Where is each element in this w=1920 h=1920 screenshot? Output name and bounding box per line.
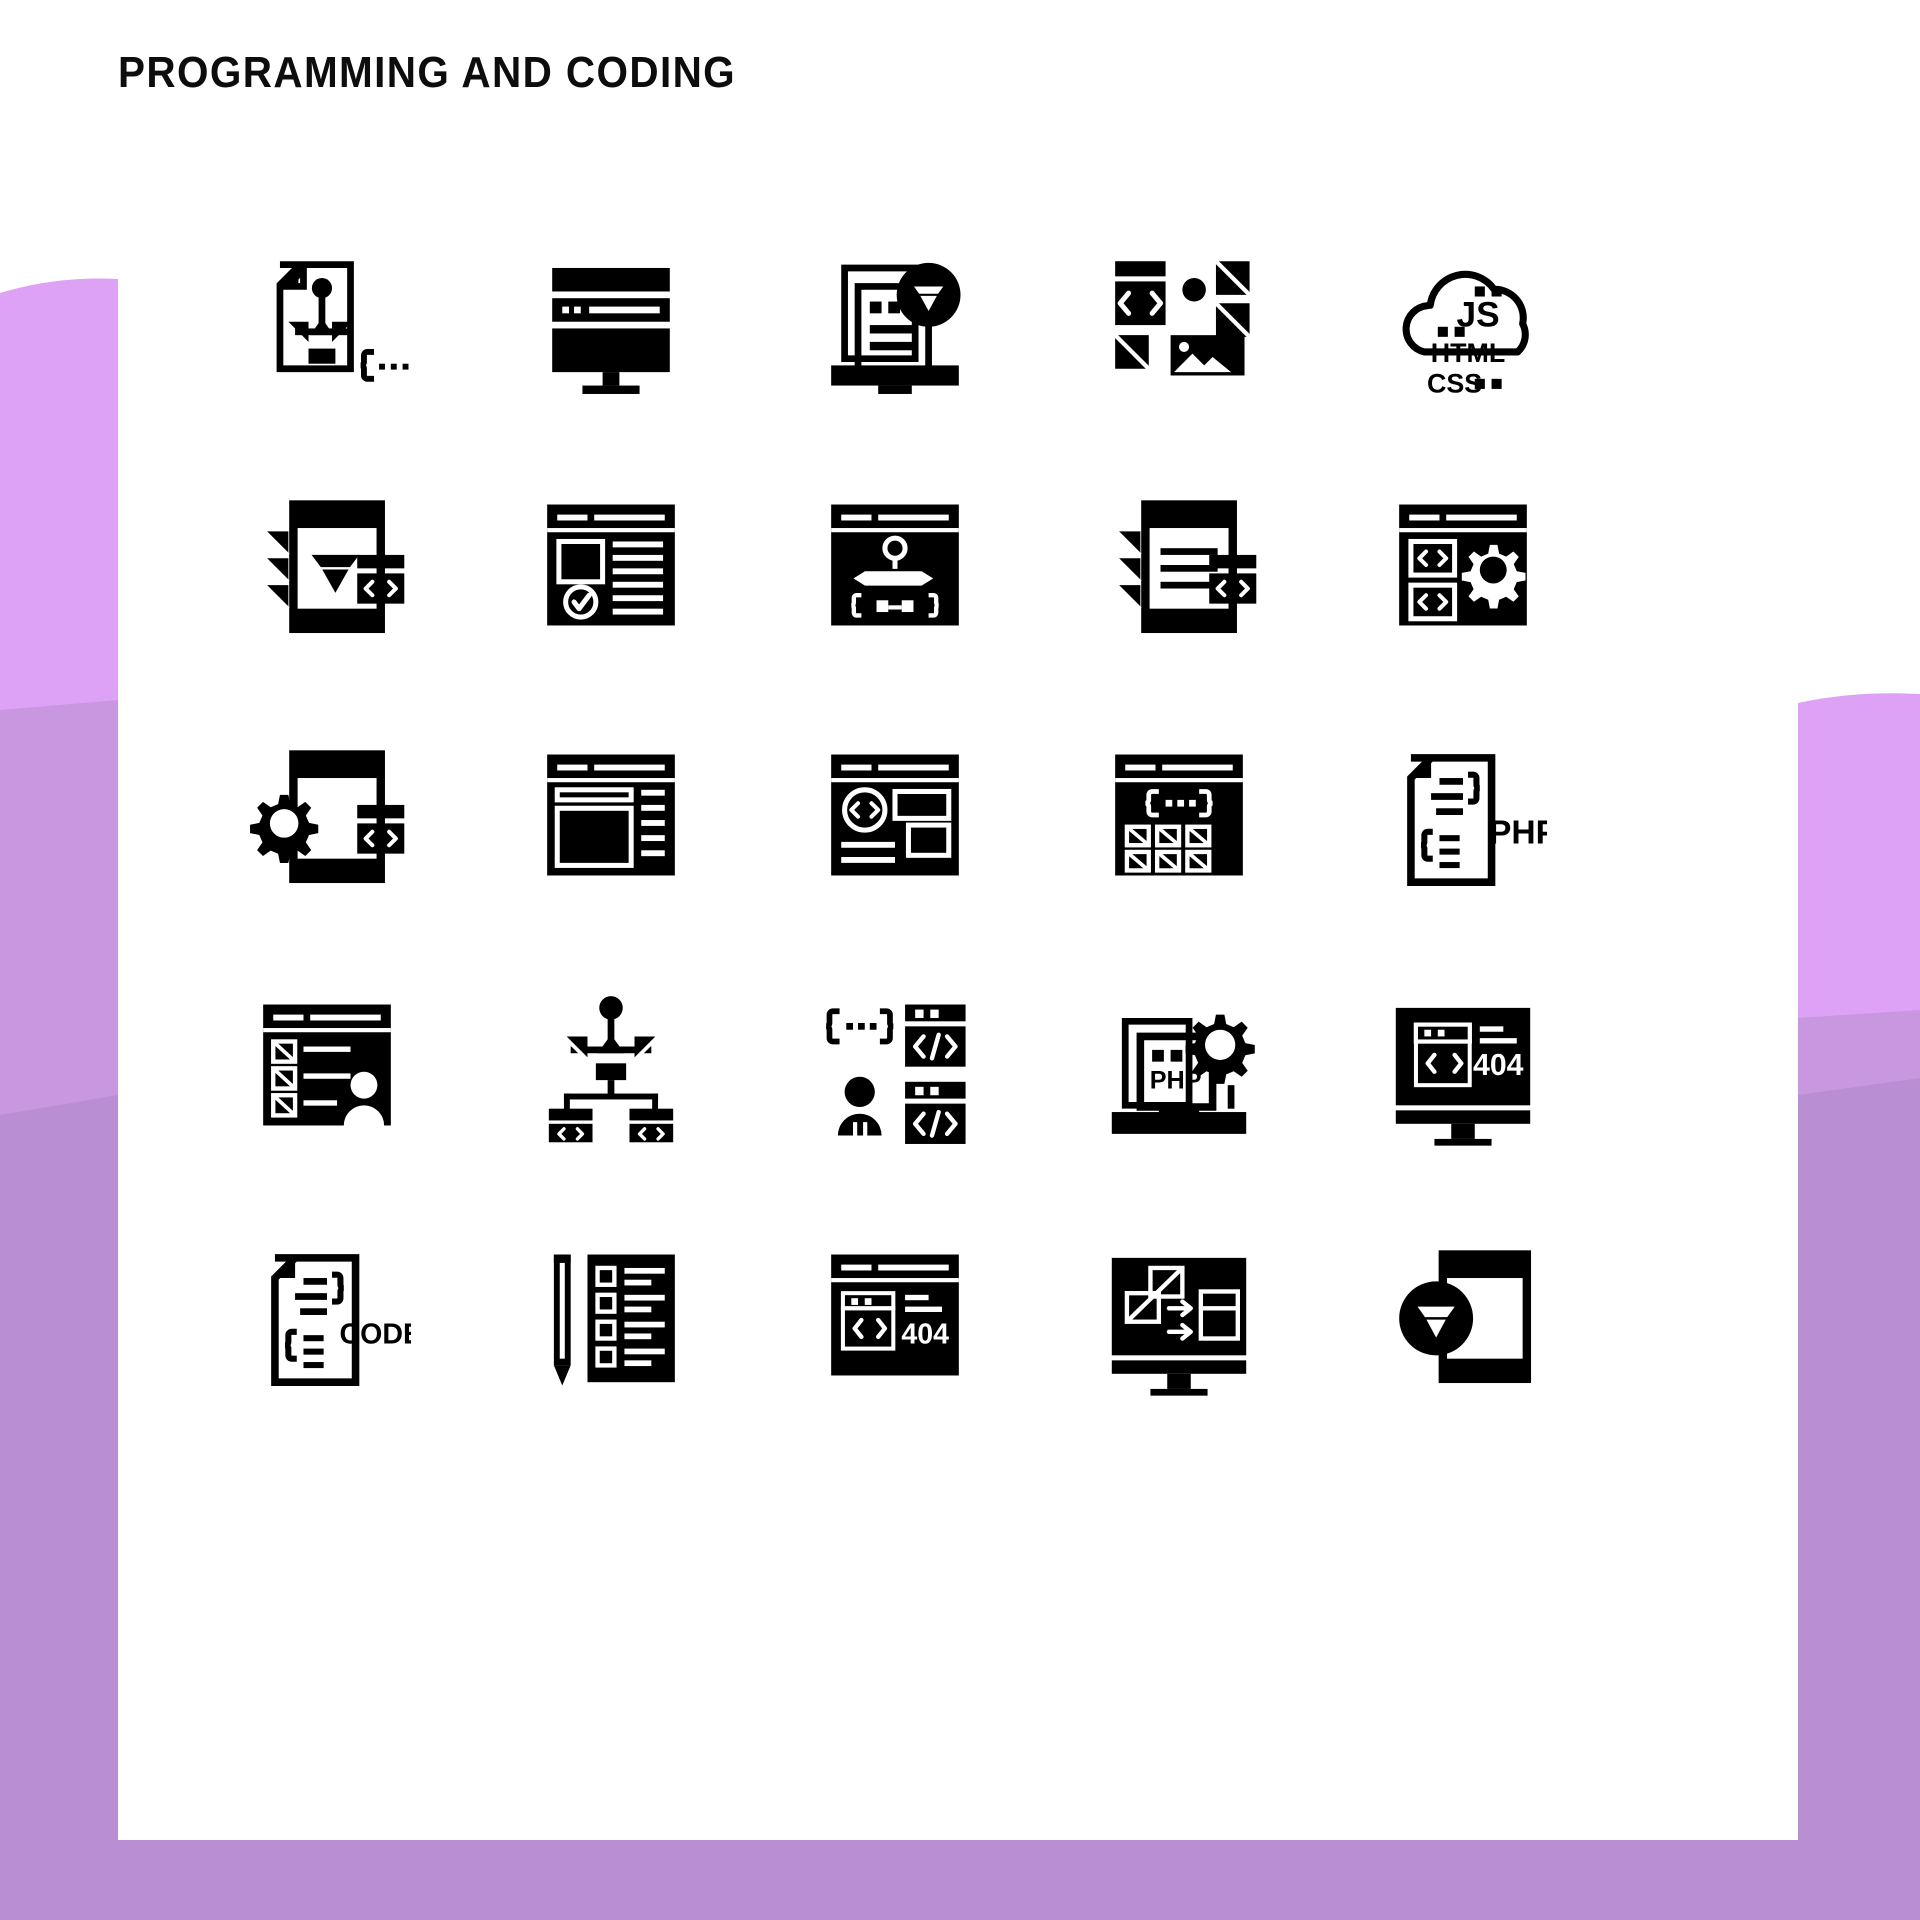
page-title: PROGRAMMING AND CODING [118, 48, 1590, 98]
bottom-band [0, 1840, 1920, 1920]
icon-cell-20[interactable]: 404 [1321, 940, 1605, 1190]
mobile-diamond-code-icon [243, 481, 411, 649]
developer-code-windows-icon [811, 981, 979, 1149]
icon-cell-10[interactable] [1321, 440, 1605, 690]
icon-cell-3[interactable] [753, 190, 1037, 440]
icon-cell-18[interactable] [753, 940, 1037, 1190]
html-label: HTML [1431, 338, 1506, 368]
monitor-responsive-transfer-icon [1095, 1231, 1263, 1399]
icon-cell-5[interactable]: JS HTML CSS [1321, 190, 1605, 440]
code-file-icon: CODE [243, 1231, 411, 1399]
cloud-js-html-css-icon: JS HTML CSS [1379, 231, 1547, 399]
icon-cell-7[interactable] [469, 440, 753, 690]
layout-grid-media-icon [1095, 231, 1263, 399]
laptop-php-gear-icon: PHP [1095, 981, 1263, 1149]
icon-cell-6[interactable] [185, 440, 469, 690]
browser-pen-design-icon [811, 481, 979, 649]
icon-cell-2[interactable] [469, 190, 753, 440]
icon-cell-17[interactable] [469, 940, 753, 1190]
mobile-lines-code-icon [1095, 481, 1263, 649]
right-blob-dark [1798, 1078, 1920, 1840]
mobile-diamond-badge-icon [1379, 1231, 1547, 1399]
monitor-404-icon: 404 [1379, 981, 1547, 1149]
pen-checklist-icon [527, 1231, 695, 1399]
icon-cell-19[interactable]: PHP [1037, 940, 1321, 1190]
code-label: CODE [340, 1319, 411, 1351]
icon-cell-23[interactable]: 404 [753, 1190, 1037, 1440]
icon-cell-4[interactable] [1037, 190, 1321, 440]
error-404-label-browser: 404 [901, 1319, 949, 1351]
php-file-icon: PHP [1379, 731, 1547, 899]
icon-cell-15[interactable]: PHP [1321, 690, 1605, 940]
laptop-diamond-icon [811, 231, 979, 399]
browser-user-list-icon [243, 981, 411, 1149]
icon-cell-8[interactable] [753, 440, 1037, 690]
icon-cell-16[interactable] [185, 940, 469, 1190]
icon-cell-12[interactable] [469, 690, 753, 940]
mobile-gear-code-icon [243, 731, 411, 899]
browser-braces-grid-icon [1095, 731, 1263, 899]
poster-stage: PROGRAMMING AND CODING [0, 0, 1920, 1920]
sitemap-code-nodes-icon [527, 981, 695, 1149]
icon-cell-9[interactable] [1037, 440, 1321, 690]
browser-code-blocks-icon [811, 731, 979, 899]
browser-gear-code-icon [1379, 481, 1547, 649]
icon-cell-24[interactable] [1037, 1190, 1321, 1440]
icon-cell-11[interactable] [185, 690, 469, 940]
browser-404-icon: 404 [811, 1231, 979, 1399]
icon-cell-25[interactable] [1321, 1190, 1605, 1440]
browser-checklist-icon [527, 481, 695, 649]
left-blob-dark [0, 1095, 118, 1840]
css-label: CSS [1427, 368, 1482, 398]
php-label: PHP [1489, 815, 1547, 852]
icon-grid: JS HTML CSS [185, 190, 1605, 1440]
error-404-label: 404 [1473, 1049, 1524, 1082]
icon-cell-14[interactable] [1037, 690, 1321, 940]
icon-cell-21[interactable]: CODE [185, 1190, 469, 1440]
icon-cell-13[interactable] [753, 690, 1037, 940]
monitor-webpage-icon [527, 231, 695, 399]
icon-cell-22[interactable] [469, 1190, 753, 1440]
icon-cell-1[interactable] [185, 190, 469, 440]
file-sitemap-code-icon [243, 231, 411, 399]
browser-wireframe-icon [527, 731, 695, 899]
